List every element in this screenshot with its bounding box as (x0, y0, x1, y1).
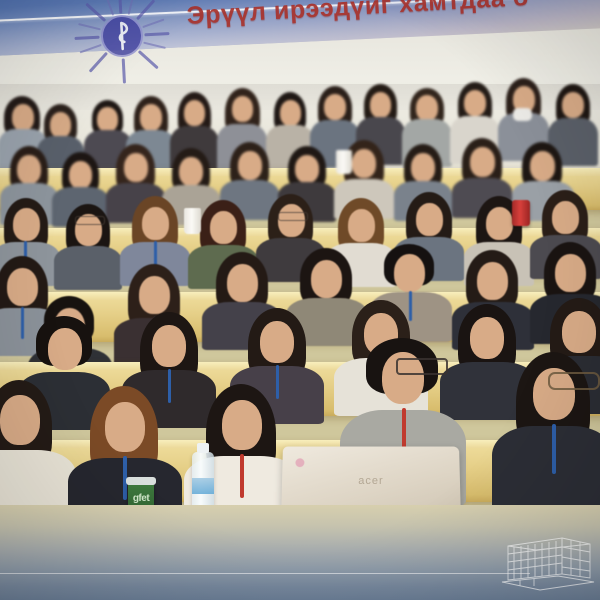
bottle-label (192, 478, 214, 494)
cup-brand-label: gfet (128, 493, 154, 504)
photo-canvas: gfet acer (0, 0, 600, 600)
laptop-sticker (295, 458, 304, 467)
face-mask (513, 108, 532, 121)
building-line-art-icon (500, 528, 600, 597)
footer-rule (0, 573, 530, 574)
eyeglasses (75, 216, 105, 225)
bottle-cap (197, 443, 209, 453)
soda-can (512, 200, 530, 226)
paper-cup (184, 208, 201, 234)
medical-university-emblem (69, 0, 174, 89)
eyeglasses (278, 212, 308, 221)
eyeglasses (396, 358, 448, 375)
cup-lid (126, 477, 156, 485)
eyeglasses (548, 372, 600, 390)
paper-cup (336, 150, 352, 174)
laptop-brand-label: acer (282, 475, 460, 487)
